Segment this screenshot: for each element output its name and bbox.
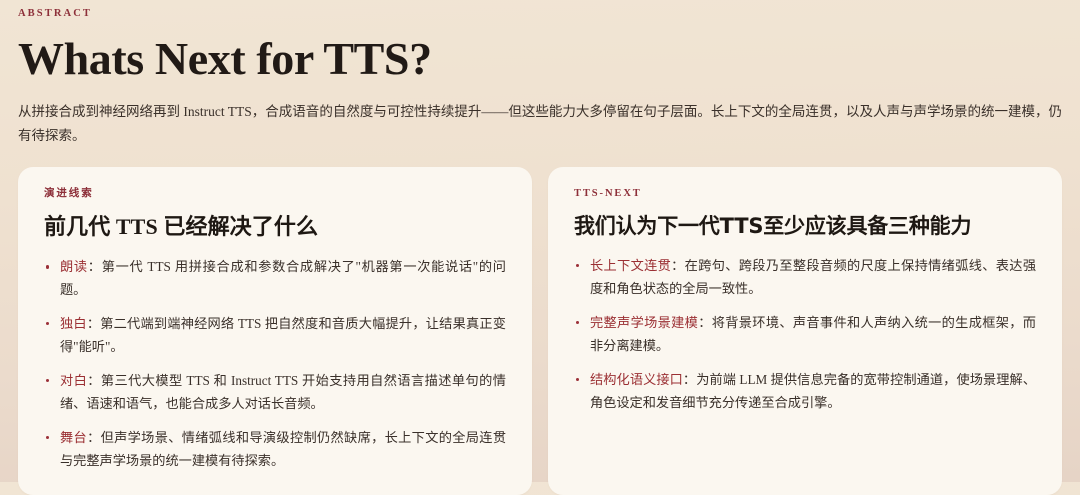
card-title-tts-next: 我们认为下一代TTS至少应该具备三种能力 [574, 213, 1036, 240]
page-title: Whats Next for TTS? [18, 33, 1062, 85]
card-tts-next: TTS-NEXT 我们认为下一代TTS至少应该具备三种能力 长上下文连贯：在跨句… [548, 167, 1062, 495]
card-eyebrow-tts-next: TTS-NEXT [574, 189, 1036, 200]
bullet-text: ：第二代端到端神经网络 TTS 把自然度和音质大幅提升，让结果真正变得"能听"。 [60, 316, 506, 354]
abstract-page: ABSTRACT Whats Next for TTS? 从拼接合成到神经网络再… [0, 0, 1080, 482]
list-item: 对白：第三代大模型 TTS 和 Instruct TTS 开始支持用自然语言描述… [44, 370, 506, 416]
list-item: 结构化语义接口：为前端 LLM 提供信息完备的宽带控制通道，使场景理解、角色设定… [574, 369, 1036, 415]
bullet-text: ：第三代大模型 TTS 和 Instruct TTS 开始支持用自然语言描述单句… [60, 373, 506, 411]
page-eyebrow: ABSTRACT [18, 0, 1062, 20]
list-item: 长上下文连贯：在跨句、跨段乃至整段音频的尺度上保持情绪弧线、表达强度和角色状态的… [574, 255, 1036, 301]
list-item: 朗读：第一代 TTS 用拼接合成和参数合成解决了"机器第一次能说话"的问题。 [44, 256, 506, 302]
bullet-text: ：第一代 TTS 用拼接合成和参数合成解决了"机器第一次能说话"的问题。 [60, 259, 506, 297]
bullet-label: 独白 [60, 316, 87, 331]
bullet-list-tts-next: 长上下文连贯：在跨句、跨段乃至整段音频的尺度上保持情绪弧线、表达强度和角色状态的… [574, 255, 1036, 415]
list-item: 舞台：但声学场景、情绪弧线和导演级控制仍然缺席，长上下文的全局连贯与完整声学场景… [44, 427, 506, 473]
card-evolution: 演进线索 前几代 TTS 已经解决了什么 朗读：第一代 TTS 用拼接合成和参数… [18, 167, 532, 495]
bullet-text: ：但声学场景、情绪弧线和导演级控制仍然缺席，长上下文的全局连贯与完整声学场景的统… [60, 430, 506, 468]
bullet-label: 舞台 [60, 430, 87, 445]
list-item: 独白：第二代端到端神经网络 TTS 把自然度和音质大幅提升，让结果真正变得"能听… [44, 313, 506, 359]
lead-paragraph: 从拼接合成到神经网络再到 Instruct TTS，合成语音的自然度与可控性持续… [18, 100, 1062, 148]
bullet-label: 结构化语义接口 [590, 372, 683, 387]
card-title-evolution: 前几代 TTS 已经解决了什么 [44, 213, 506, 242]
bullet-label: 长上下文连贯 [590, 258, 671, 273]
bullet-label: 对白 [60, 373, 87, 388]
card-row: 演进线索 前几代 TTS 已经解决了什么 朗读：第一代 TTS 用拼接合成和参数… [18, 167, 1062, 495]
bullet-list-evolution: 朗读：第一代 TTS 用拼接合成和参数合成解决了"机器第一次能说话"的问题。 独… [44, 256, 506, 473]
bullet-label: 完整声学场景建模 [590, 315, 698, 330]
bullet-label: 朗读 [60, 259, 88, 274]
list-item: 完整声学场景建模：将背景环境、声音事件和人声纳入统一的生成框架，而非分离建模。 [574, 312, 1036, 358]
card-eyebrow-evolution: 演进线索 [44, 189, 506, 200]
